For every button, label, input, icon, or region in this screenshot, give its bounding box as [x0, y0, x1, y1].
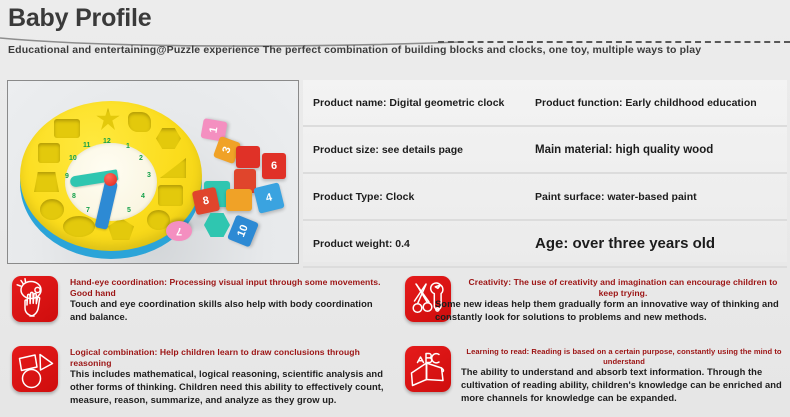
clock-numeral: 8 [72, 193, 76, 200]
number-block [236, 146, 260, 168]
feature-heading: Hand-eye coordination: Processing visual… [70, 277, 390, 299]
clock-numeral: 10 [69, 155, 77, 162]
page-header: Baby Profile Educational and entertainin… [0, 0, 790, 70]
spec-product-type: Product Type: Clock [313, 190, 528, 204]
clock-numeral: 12 [103, 138, 111, 145]
geometric-shapes-icon [12, 346, 58, 392]
table-row: Product name: Digital geometric clock Pr… [303, 80, 787, 127]
number-block [226, 189, 252, 211]
number-block: 8 [192, 187, 220, 215]
abc-book-icon [405, 346, 451, 392]
product-photo: 12 1 2 3 4 5 6 7 8 9 10 11 1 3 6 8 4 [7, 80, 299, 264]
hole-oval-b [63, 216, 95, 237]
number-block: 7 [166, 221, 192, 241]
table-row: Product weight: 0.4 Age: over three year… [303, 221, 787, 268]
hole-rect-tl [54, 119, 80, 138]
spec-product-name: Product name: Digital geometric clock [313, 96, 528, 110]
number-block: 4 [253, 182, 285, 214]
product-detail-page: Baby Profile Educational and entertainin… [0, 0, 790, 417]
number-block: 6 [262, 153, 286, 179]
clock-numeral: 9 [65, 173, 69, 180]
spec-product-weight: Product weight: 0.4 [313, 237, 528, 251]
spec-main-material: Main material: high quality wood [535, 143, 783, 157]
hole-square-r [158, 185, 183, 206]
feature-heading: Logical combination: Help children learn… [70, 347, 390, 369]
feature-body: The ability to understand and absorb tex… [461, 365, 787, 404]
spec-product-size: Product size: see details page [313, 143, 528, 157]
page-title: Baby Profile [8, 4, 151, 33]
table-row: Product size: see details page Main mate… [303, 127, 787, 174]
feature-learning-to-read: Learning to read: Reading is based on a … [405, 346, 787, 412]
table-row: Product Type: Clock Paint surface: water… [303, 174, 787, 221]
spec-product-function: Product function: Early childhood educat… [535, 96, 783, 110]
product-spec-table: Product name: Digital geometric clock Pr… [303, 80, 787, 262]
clock-numeral: 4 [141, 193, 145, 200]
clock-numeral: 1 [126, 143, 130, 150]
clock-numeral: 11 [83, 142, 90, 149]
feature-body: Touch and eye coordination skills also h… [70, 297, 392, 323]
clock-pivot [104, 173, 117, 186]
spec-age-range: Age: over three years old [535, 237, 783, 251]
feature-heading: Creativity: The use of creativity and im… [459, 277, 787, 299]
feature-body: This includes mathematical, logical reas… [70, 367, 392, 406]
feature-creativity: Creativity: The use of creativity and im… [405, 276, 787, 338]
hole-flower [128, 112, 151, 132]
eye-hand-icon [12, 276, 58, 322]
clock-numeral: 7 [86, 207, 90, 214]
page-subtitle: Educational and entertaining@Puzzle expe… [8, 44, 778, 58]
hole-circle-bl [40, 199, 64, 220]
clock-numeral: 2 [139, 155, 143, 162]
feature-hand-eye-coordination: Hand-eye coordination: Processing visual… [12, 276, 392, 338]
clock-numeral: 5 [127, 207, 131, 214]
feature-body: Some new ideas help them gradually form … [435, 297, 787, 323]
hole-trapezoid-l [34, 172, 59, 192]
feature-logical-combination: Logical combination: Help children learn… [12, 346, 392, 412]
hole-square-l [38, 143, 60, 163]
photo-background: 12 1 2 3 4 5 6 7 8 9 10 11 1 3 6 8 4 [8, 81, 298, 263]
feature-heading: Learning to read: Reading is based on a … [461, 347, 787, 367]
header-dashed-divider [438, 41, 790, 43]
spec-paint-surface: Paint surface: water-based paint [535, 190, 783, 204]
clock-numeral: 3 [147, 172, 151, 179]
